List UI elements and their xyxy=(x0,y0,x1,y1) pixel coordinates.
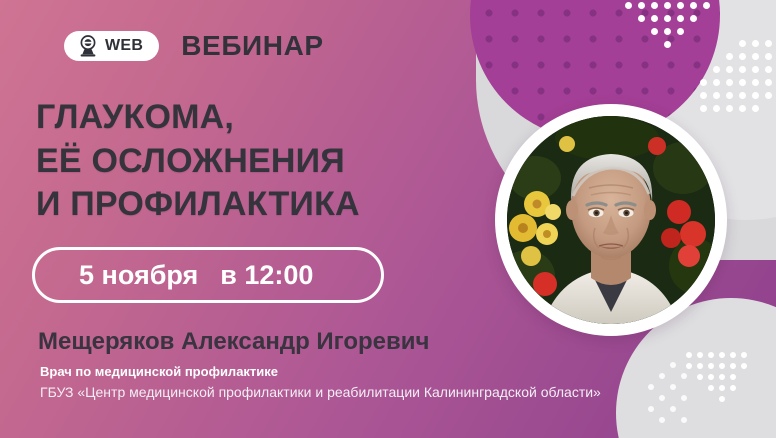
schedule-date: 5 ноября xyxy=(79,262,198,289)
speaker-role: Врач по медицинской профилактике xyxy=(40,365,278,378)
speaker-organization: ГБУЗ «Центр медицинской профилактики и р… xyxy=(40,385,601,399)
webinar-poster: WEB ВЕБИНАР ГЛАУКОМА, ЕЁ ОСЛОЖНЕНИЯ И ПР… xyxy=(0,0,776,438)
header-badge-row: WEB ВЕБИНАР xyxy=(64,31,324,61)
dot-cluster-bottom-left-of-blob xyxy=(648,362,702,424)
schedule-badge: 5 ноября в 12:00 xyxy=(32,247,384,303)
page-title-line-2: ЕЁ ОСЛОЖНЕНИЯ xyxy=(36,140,360,184)
web-badge-label: WEB xyxy=(105,38,143,54)
speaker-name: Мещеряков Александр Игоревич xyxy=(38,330,429,354)
webcam-icon xyxy=(76,35,100,57)
speaker-avatar-ring xyxy=(495,104,727,336)
webinar-title-label: ВЕБИНАР xyxy=(181,32,323,60)
dot-cluster-top-right xyxy=(700,40,776,130)
page-title: ГЛАУКОМА, ЕЁ ОСЛОЖНЕНИЯ И ПРОФИЛАКТИКА xyxy=(36,96,360,227)
schedule-time: в 12:00 xyxy=(220,262,313,289)
page-title-line-1: ГЛАУКОМА, xyxy=(36,96,360,140)
web-badge-pill: WEB xyxy=(64,31,159,61)
page-title-line-3: И ПРОФИЛАКТИКА xyxy=(36,183,360,227)
speaker-avatar xyxy=(507,116,715,324)
